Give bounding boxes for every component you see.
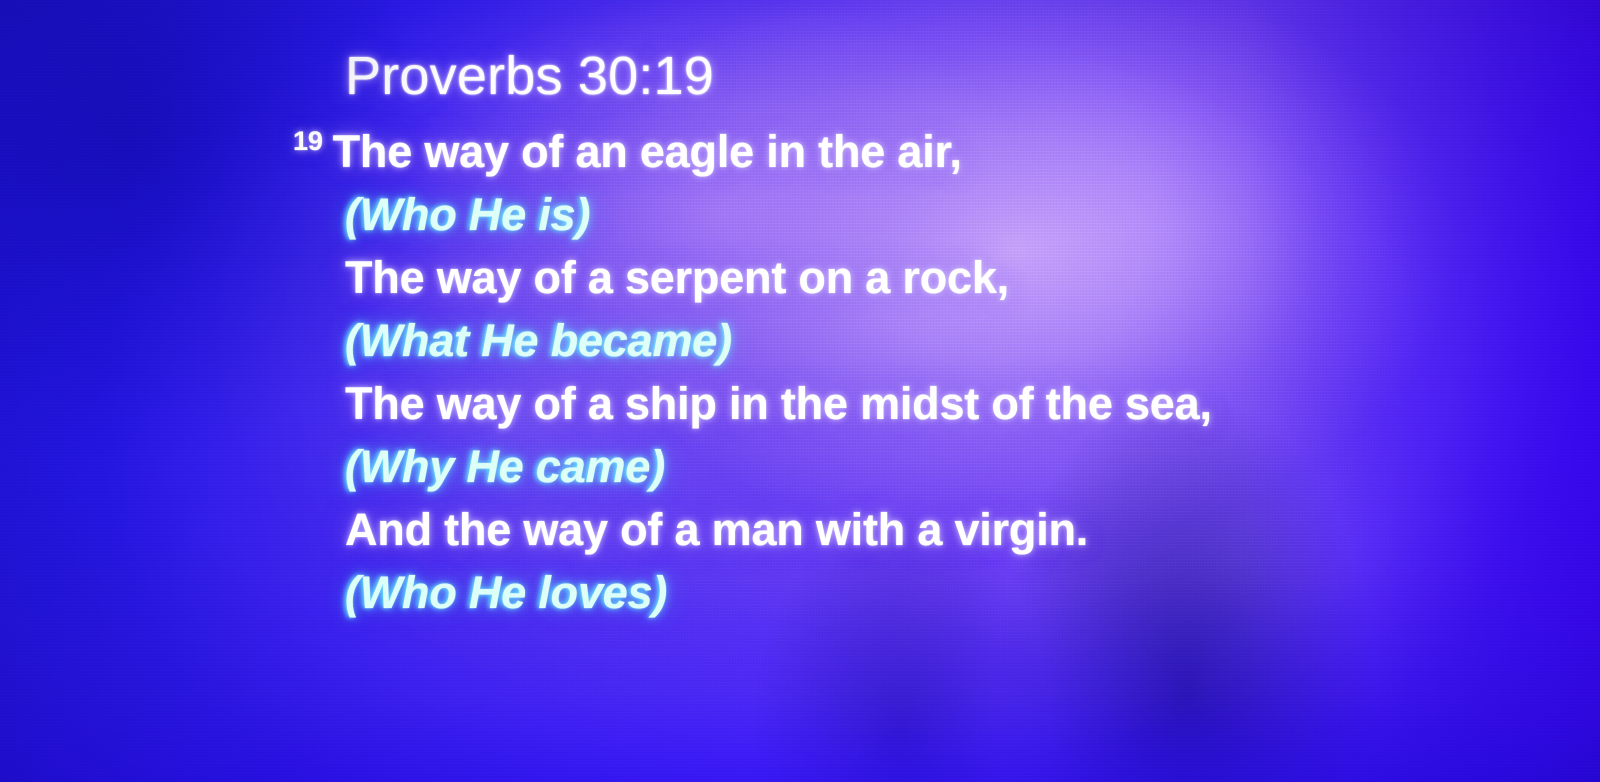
verse-line-4: (What He became) (345, 309, 1525, 372)
verse-line-3: The way of a serpent on a rock, (345, 246, 1525, 309)
page-title: Proverbs 30:19 (345, 44, 1525, 108)
verse-line-7: And the way of a man with a virgin. (345, 498, 1525, 561)
verse-line-2: (Who He is) (345, 183, 1525, 246)
verse-line-6: (Why He came) (345, 435, 1525, 498)
verse-line-8: (Who He loves) (345, 561, 1525, 624)
projected-slide: Proverbs 30:19 19The way of an eagle in … (0, 0, 1600, 782)
verse-number-superscript: 19 (293, 126, 323, 156)
slide-text-block: Proverbs 30:19 19The way of an eagle in … (345, 44, 1525, 624)
verse-body: 19The way of an eagle in the air, (Who H… (345, 110, 1525, 624)
verse-line-1-text: The way of an eagle in the air, (333, 126, 962, 177)
verse-line-5: The way of a ship in the midst of the se… (345, 372, 1525, 435)
verse-line-1: 19The way of an eagle in the air, (345, 110, 1525, 183)
